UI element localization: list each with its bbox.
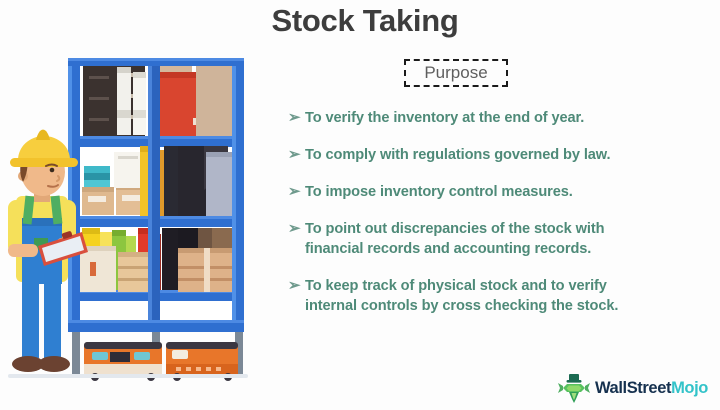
list-item: ➢ To verify the inventory at the end of …: [288, 108, 703, 128]
list-item-line1: To impose inventory control measures.: [305, 184, 573, 200]
logo-brand-second: Mojo: [671, 379, 708, 397]
list-item-line2: internal controls by cross checking the …: [305, 296, 703, 316]
list-item-line1: To verify the inventory at the end of ye…: [305, 110, 584, 126]
list-item-text: To point out discrepancies of the stock …: [305, 219, 703, 259]
list-item-text: To keep track of physical stock and to v…: [305, 276, 703, 316]
list-item: ➢ To point out discrepancies of the stoc…: [288, 219, 703, 259]
floor-line: [8, 374, 248, 378]
list-item-text: To verify the inventory at the end of ye…: [305, 108, 703, 128]
bull-with-tophat-icon: [556, 370, 592, 406]
list-item: ➢ To impose inventory control measures.: [288, 182, 703, 202]
list-item-line1: To point out discrepancies of the stock …: [305, 221, 604, 237]
logo-brand-first: WallStreet: [595, 379, 671, 397]
list-item-line2: financial records and accounting records…: [305, 239, 703, 259]
arrow-bullet-icon: ➢: [288, 182, 305, 202]
list-item-line1: To keep track of physical stock and to v…: [305, 278, 607, 294]
arrow-bullet-icon: ➢: [288, 219, 305, 239]
arrow-bullet-icon: ➢: [288, 108, 305, 128]
list-item-line1: To comply with regulations governed by l…: [305, 147, 610, 163]
slide-canvas: Stock Taking Purpose ➢ To verify the inv…: [0, 0, 720, 410]
list-item-text: To impose inventory control measures.: [305, 182, 703, 202]
purpose-bullet-list: ➢ To verify the inventory at the end of …: [288, 108, 703, 333]
list-item: ➢ To comply with regulations governed by…: [288, 145, 703, 165]
list-item: ➢ To keep track of physical stock and to…: [288, 276, 703, 316]
page-title: Stock Taking: [250, 4, 480, 38]
warehouse-stock-taking-illustration: [0, 0, 270, 410]
wallstreetmojo-logo[interactable]: WallStreetMojo: [556, 370, 708, 406]
list-item-text: To comply with regulations governed by l…: [305, 145, 703, 165]
arrow-bullet-icon: ➢: [288, 276, 305, 296]
logo-wordmark: WallStreetMojo: [595, 379, 708, 398]
arrow-bullet-icon: ➢: [288, 145, 305, 165]
purpose-badge: Purpose: [404, 59, 508, 87]
illustration-svg: [0, 0, 270, 410]
